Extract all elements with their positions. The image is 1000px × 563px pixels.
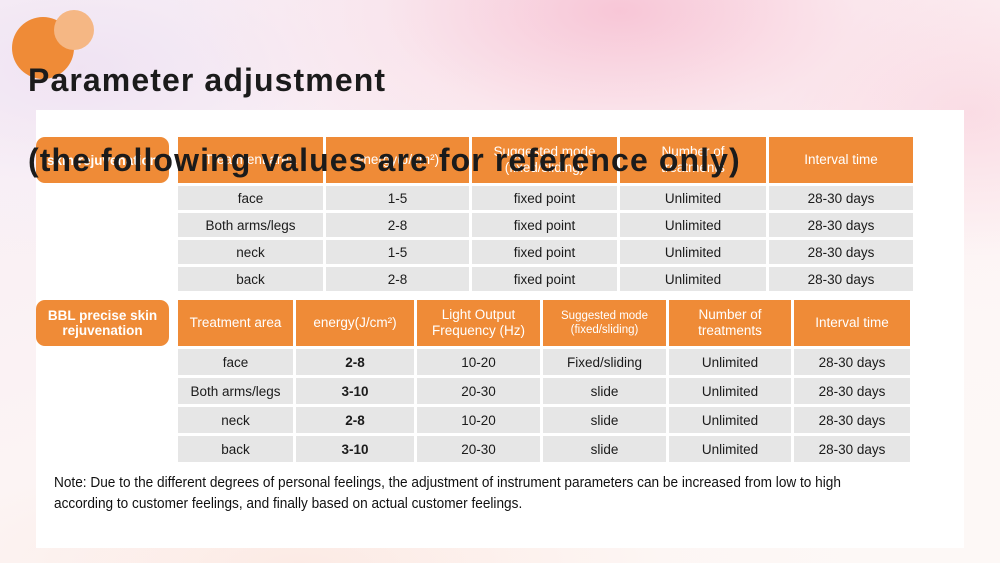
table2-header-row: BBL precise skin rejuvenation Treatment … xyxy=(36,300,964,346)
table1-cell-interval-time: 28-30 days xyxy=(769,240,913,264)
table-row: back 3-10 20-30 slide Unlimited 28-30 da… xyxy=(36,436,964,462)
table1-cell-suggested-mode: fixed point xyxy=(472,267,617,291)
table2-cell-number-of-treatments: Unlimited xyxy=(669,436,791,462)
table2-cell-light-output-frequency: 10-20 xyxy=(417,407,540,433)
table2-cell-suggested-mode: Fixed/sliding xyxy=(543,349,666,375)
table-row: back 2-8 fixed point Unlimited 28-30 day… xyxy=(36,267,964,291)
table1-row-spacer xyxy=(36,267,169,291)
table1-cell-interval-time: 28-30 days xyxy=(769,267,913,291)
table2-row-spacer xyxy=(36,436,169,462)
table1-row-spacer xyxy=(36,240,169,264)
table2-cell-number-of-treatments: Unlimited xyxy=(669,407,791,433)
table-row: neck 1-5 fixed point Unlimited 28-30 day… xyxy=(36,240,964,264)
table1-cell-number-of-treatments: Unlimited xyxy=(620,240,766,264)
table-row: neck 2-8 10-20 slide Unlimited 28-30 day… xyxy=(36,407,964,433)
table2-row-label-pill: BBL precise skin rejuvenation xyxy=(36,300,169,346)
table2-row-spacer xyxy=(36,349,169,375)
note-text: Note: Due to the different degrees of pe… xyxy=(54,473,891,515)
table1-cell-number-of-treatments: Unlimited xyxy=(620,267,766,291)
page-title-line-2: (the following values are for reference … xyxy=(28,140,928,180)
table2-cell-energy: 2-8 xyxy=(296,349,414,375)
table2-cell-suggested-mode: slide xyxy=(543,378,666,404)
page-title: Parameter adjustment (the following valu… xyxy=(28,20,928,220)
table2-row-spacer xyxy=(36,378,169,404)
table2-header-interval-time: Interval time xyxy=(794,300,910,346)
table1-cell-energy: 1-5 xyxy=(326,240,469,264)
table2-header-energy: energy(J/cm²) xyxy=(296,300,414,346)
table1-cell-treatment-area: back xyxy=(178,267,323,291)
table2-cell-interval-time: 28-30 days xyxy=(794,378,910,404)
table2-cell-treatment-area: neck xyxy=(178,407,293,433)
table2-cell-suggested-mode: slide xyxy=(543,407,666,433)
table2-header-suggested-mode: Suggested mode (fixed/sliding) xyxy=(543,300,666,346)
slide-canvas: Parameter adjustment (the following valu… xyxy=(0,0,1000,563)
table-bbl-precise-skin-rejuvenation: BBL precise skin rejuvenation Treatment … xyxy=(36,300,964,462)
table2-cell-treatment-area: back xyxy=(178,436,293,462)
page-title-line-1: Parameter adjustment xyxy=(28,60,928,100)
table2-cell-light-output-frequency: 20-30 xyxy=(417,436,540,462)
table1-cell-treatment-area: neck xyxy=(178,240,323,264)
table-row: Both arms/legs 3-10 20-30 slide Unlimite… xyxy=(36,378,964,404)
table2-cell-suggested-mode: slide xyxy=(543,436,666,462)
table2-cell-light-output-frequency: 20-30 xyxy=(417,378,540,404)
table1-cell-suggested-mode: fixed point xyxy=(472,240,617,264)
table2-header-treatment-area: Treatment area xyxy=(178,300,293,346)
table2-header-number-of-treatments: Number of treatments xyxy=(669,300,791,346)
table2-cell-number-of-treatments: Unlimited xyxy=(669,378,791,404)
table1-cell-energy: 2-8 xyxy=(326,267,469,291)
table2-cell-energy: 3-10 xyxy=(296,436,414,462)
table2-cell-number-of-treatments: Unlimited xyxy=(669,349,791,375)
table2-cell-energy: 3-10 xyxy=(296,378,414,404)
table2-cell-interval-time: 28-30 days xyxy=(794,436,910,462)
table2-header-light-output-frequency: Light Output Frequency (Hz) xyxy=(417,300,540,346)
table-row: face 2-8 10-20 Fixed/sliding Unlimited 2… xyxy=(36,349,964,375)
table2-cell-treatment-area: Both arms/legs xyxy=(178,378,293,404)
table2-cell-interval-time: 28-30 days xyxy=(794,349,910,375)
table2-cell-energy: 2-8 xyxy=(296,407,414,433)
table2-cell-interval-time: 28-30 days xyxy=(794,407,910,433)
table2-row-spacer xyxy=(36,407,169,433)
table2-cell-light-output-frequency: 10-20 xyxy=(417,349,540,375)
table2-cell-treatment-area: face xyxy=(178,349,293,375)
